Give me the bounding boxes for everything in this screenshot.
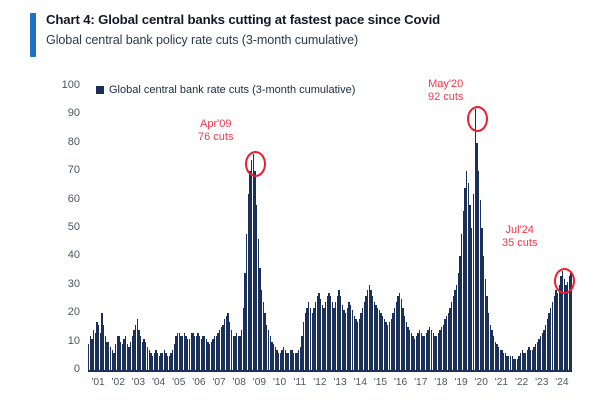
x-axis-line <box>88 370 572 372</box>
y-axis-tick-label: 50 <box>44 221 80 233</box>
y-axis-tick-label: 80 <box>44 136 80 148</box>
annotation-label-jul24: Jul'2435 cuts <box>502 224 537 249</box>
y-axis-tick-label: 0 <box>44 363 80 375</box>
legend-label: Global central bank rate cuts (3-month c… <box>109 84 355 96</box>
chart-figure: Chart 4: Global central banks cutting at… <box>0 0 600 409</box>
annotation-label-apr09: Apr'0976 cuts <box>198 118 233 143</box>
y-axis-tick-label: 30 <box>44 278 80 290</box>
annotation-marker-jul24 <box>554 268 575 294</box>
y-axis-tick-label: 70 <box>44 164 80 176</box>
y-axis-tick-label: 90 <box>44 107 80 119</box>
y-axis-tick-label: 60 <box>44 193 80 205</box>
annotation-label-may20: May'2092 cuts <box>428 78 463 103</box>
annotation-marker-apr09 <box>245 151 266 177</box>
chart-legend: Global central bank rate cuts (3-month c… <box>96 84 355 96</box>
y-axis-tick-label: 100 <box>44 79 80 91</box>
y-axis-tick-label: 20 <box>44 306 80 318</box>
annotation-marker-may20 <box>467 106 488 132</box>
x-axis-tick-label: '24 <box>548 377 576 388</box>
y-axis-tick-label: 10 <box>44 335 80 347</box>
y-axis-tick-label: 40 <box>44 249 80 261</box>
legend-swatch-icon <box>96 86 104 94</box>
plot-area: 0102030405060708090100'01'02'03'04'05'06… <box>0 0 600 409</box>
